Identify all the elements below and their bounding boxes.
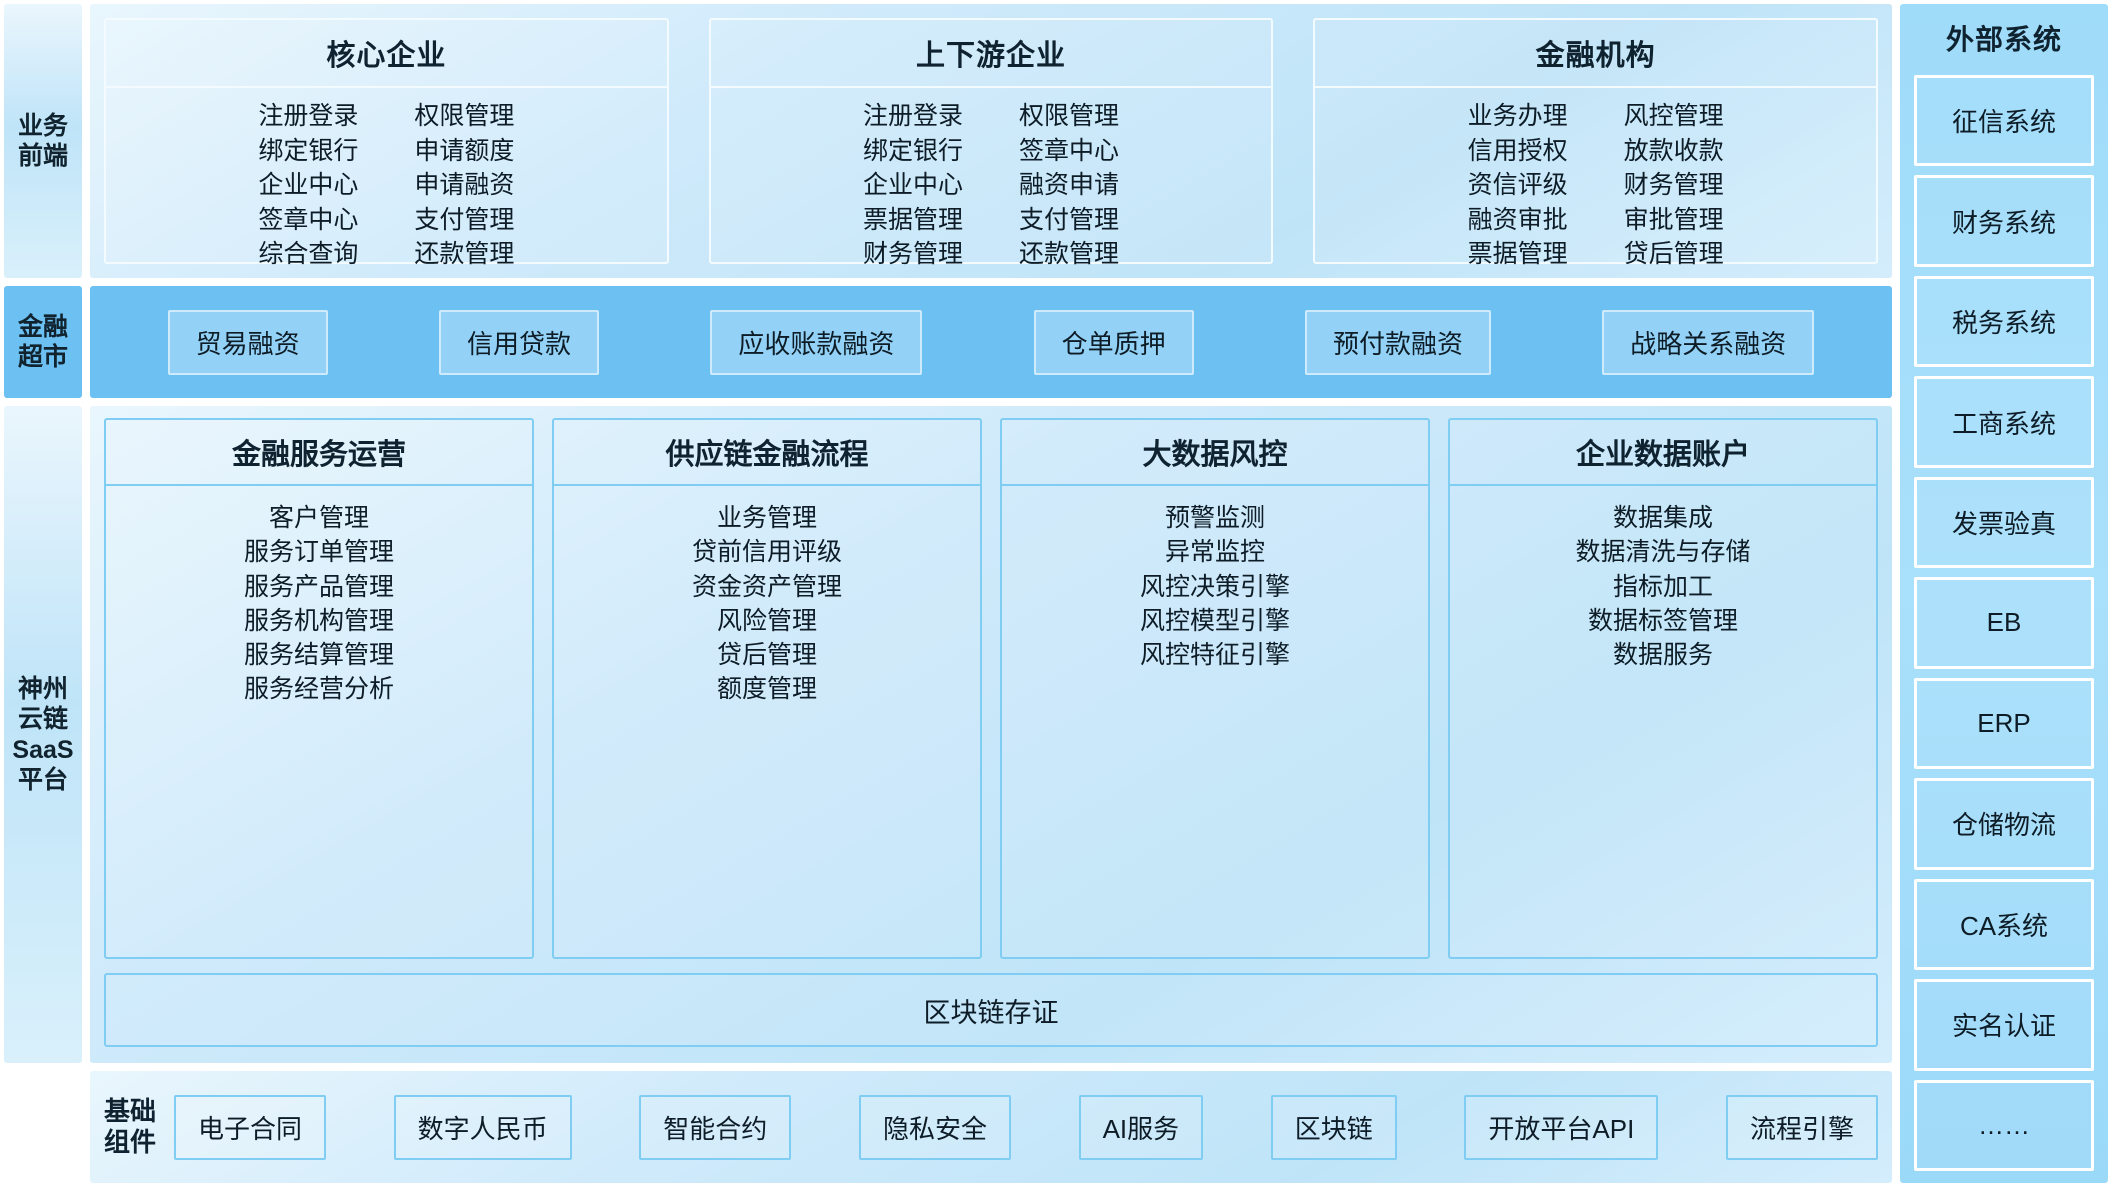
layer-label-line-3: SaaS bbox=[12, 735, 73, 766]
layer-label-line-4: 平台 bbox=[12, 765, 73, 796]
layer-label-spacer bbox=[4, 1071, 82, 1183]
front-item[interactable]: 企业中心 bbox=[258, 169, 358, 202]
external-system-invoice-verification[interactable]: 发票验真 bbox=[1914, 477, 2094, 568]
saas-item[interactable]: 服务经营分析 bbox=[244, 673, 394, 706]
base-chip-ai-service[interactable]: AI服务 bbox=[1079, 1095, 1204, 1160]
base-chip-digital-rmb[interactable]: 数字人民币 bbox=[394, 1095, 572, 1160]
base-chip-blockchain[interactable]: 区块链 bbox=[1271, 1095, 1397, 1160]
layer-label-business-frontend: 业务 前端 bbox=[4, 4, 82, 278]
front-card-title: 上下游企业 bbox=[711, 20, 1272, 88]
layer-label-line-2: 前端 bbox=[18, 141, 68, 172]
saas-item[interactable]: 资金资产管理 bbox=[692, 571, 842, 604]
front-item[interactable]: 权限管理 bbox=[414, 100, 514, 133]
saas-card-title: 供应链金融流程 bbox=[554, 420, 980, 486]
base-label-line-1: 基础 bbox=[104, 1096, 156, 1127]
front-card-title: 核心企业 bbox=[106, 20, 667, 88]
saas-item[interactable]: 指标加工 bbox=[1613, 571, 1713, 604]
saas-item[interactable]: 服务结算管理 bbox=[244, 639, 394, 672]
front-item[interactable]: 风控管理 bbox=[1624, 100, 1724, 133]
front-item[interactable]: 申请额度 bbox=[414, 135, 514, 168]
saas-card-title: 金融服务运营 bbox=[106, 420, 532, 486]
external-systems-title: 外部系统 bbox=[1946, 12, 2062, 66]
saas-card-supply-chain-finance-process[interactable]: 供应链金融流程 业务管理 贷前信用评级 资金资产管理 风险管理 贷后管理 额度管… bbox=[552, 418, 982, 959]
front-item[interactable]: 财务管理 bbox=[863, 238, 963, 271]
front-item[interactable]: 融资审批 bbox=[1468, 204, 1568, 237]
saas-card-title: 大数据风控 bbox=[1002, 420, 1428, 486]
external-system-tax[interactable]: 税务系统 bbox=[1914, 276, 2094, 367]
front-card-column-right: 权限管理 申请额度 申请融资 支付管理 还款管理 bbox=[414, 100, 514, 271]
layer-label-line-1: 神州 bbox=[12, 674, 73, 705]
layer-row-financial-supermarket: 金融 超市 贸易融资 信用贷款 应收账款融资 仓单质押 预付款融资 战略关系融资 bbox=[4, 286, 1892, 398]
main-layers-column: 业务 前端 核心企业 注册登录 绑定银行 企业中心 签章中心 bbox=[4, 4, 1892, 1183]
front-item[interactable]: 资信评级 bbox=[1468, 169, 1568, 202]
saas-item[interactable]: 风控特征引擎 bbox=[1140, 639, 1290, 672]
layer-row-base-components: 基础 组件 电子合同 数字人民币 智能合约 隐私安全 AI服务 区块链 开放平台… bbox=[4, 1071, 1892, 1183]
saas-item[interactable]: 风控模型引擎 bbox=[1140, 605, 1290, 638]
front-item[interactable]: 综合查询 bbox=[258, 238, 358, 271]
saas-card-enterprise-data-account[interactable]: 企业数据账户 数据集成 数据清洗与存储 指标加工 数据标签管理 数据服务 bbox=[1448, 418, 1878, 959]
saas-item[interactable]: 数据服务 bbox=[1613, 639, 1713, 672]
front-item[interactable]: 财务管理 bbox=[1624, 169, 1724, 202]
front-card-upstream-downstream-enterprise[interactable]: 上下游企业 注册登录 绑定银行 企业中心 票据管理 财务管理 权限管理 bbox=[709, 18, 1274, 264]
layer-label-line-2: 超市 bbox=[18, 342, 68, 373]
external-system-finance[interactable]: 财务系统 bbox=[1914, 175, 2094, 266]
saas-item[interactable]: 数据标签管理 bbox=[1588, 605, 1738, 638]
front-item[interactable]: 支付管理 bbox=[1019, 204, 1119, 237]
architecture-diagram: 业务 前端 核心企业 注册登录 绑定银行 企业中心 签章中心 bbox=[0, 0, 2114, 1187]
saas-item[interactable]: 预警监测 bbox=[1165, 502, 1265, 535]
market-chip-trade-finance[interactable]: 贸易融资 bbox=[168, 310, 328, 375]
saas-card-financial-service-operation[interactable]: 金融服务运营 客户管理 服务订单管理 服务产品管理 服务机构管理 服务结算管理 … bbox=[104, 418, 534, 959]
market-chip-credit-loan[interactable]: 信用贷款 bbox=[439, 310, 599, 375]
saas-item[interactable]: 额度管理 bbox=[717, 673, 817, 706]
base-components-panel: 基础 组件 电子合同 数字人民币 智能合约 隐私安全 AI服务 区块链 开放平台… bbox=[90, 1071, 1892, 1183]
base-chip-process-engine[interactable]: 流程引擎 bbox=[1726, 1095, 1878, 1160]
front-item[interactable]: 还款管理 bbox=[414, 238, 514, 271]
saas-item[interactable]: 服务订单管理 bbox=[244, 536, 394, 569]
saas-item[interactable]: 业务管理 bbox=[717, 502, 817, 535]
base-components-label: 基础 组件 bbox=[104, 1096, 160, 1158]
saas-item[interactable]: 风险管理 bbox=[717, 605, 817, 638]
market-chip-warehouse-receipt-pledge[interactable]: 仓单质押 bbox=[1034, 310, 1194, 375]
front-item[interactable]: 签章中心 bbox=[258, 204, 358, 237]
layer-row-saas-platform: 神州 云链 SaaS 平台 金融服务运营 客户管理 服务订单管理 服务产 bbox=[4, 406, 1892, 1063]
front-item[interactable]: 审批管理 bbox=[1624, 204, 1724, 237]
base-label-line-2: 组件 bbox=[104, 1127, 156, 1158]
layer-label-line-1: 业务 bbox=[18, 111, 68, 142]
market-chip-receivables-finance[interactable]: 应收账款融资 bbox=[710, 310, 922, 375]
external-system-real-name-auth[interactable]: 实名认证 bbox=[1914, 979, 2094, 1070]
layer-label-financial-supermarket: 金融 超市 bbox=[4, 286, 82, 398]
external-system-warehouse-logistics[interactable]: 仓储物流 bbox=[1914, 778, 2094, 869]
blockchain-evidence-bar[interactable]: 区块链存证 bbox=[104, 973, 1878, 1047]
front-card-column-right: 风控管理 放款收款 财务管理 审批管理 贷后管理 bbox=[1624, 100, 1724, 271]
external-system-more[interactable]: …… bbox=[1914, 1080, 2094, 1171]
front-card-title: 金融机构 bbox=[1315, 20, 1876, 88]
saas-item[interactable]: 数据清洗与存储 bbox=[1575, 536, 1750, 569]
external-system-ca[interactable]: CA系统 bbox=[1914, 879, 2094, 970]
front-item[interactable]: 权限管理 bbox=[1019, 100, 1119, 133]
market-chip-strategic-relation-finance[interactable]: 战略关系融资 bbox=[1602, 310, 1814, 375]
front-item[interactable]: 放款收款 bbox=[1624, 135, 1724, 168]
saas-item[interactable]: 风控决策引擎 bbox=[1140, 571, 1290, 604]
external-system-erp[interactable]: ERP bbox=[1914, 678, 2094, 769]
front-card-core-enterprise[interactable]: 核心企业 注册登录 绑定银行 企业中心 签章中心 综合查询 权限管理 bbox=[104, 18, 669, 264]
saas-item[interactable]: 贷前信用评级 bbox=[692, 536, 842, 569]
front-item[interactable]: 企业中心 bbox=[863, 169, 963, 202]
front-card-column-left: 注册登录 绑定银行 企业中心 签章中心 综合查询 bbox=[258, 100, 358, 271]
front-card-column-left: 业务办理 信用授权 资信评级 融资审批 票据管理 bbox=[1468, 100, 1568, 271]
external-system-credit-reporting[interactable]: 征信系统 bbox=[1914, 75, 2094, 166]
front-item[interactable]: 注册登录 bbox=[258, 100, 358, 133]
financial-supermarket-band: 贸易融资 信用贷款 应收账款融资 仓单质押 预付款融资 战略关系融资 bbox=[90, 286, 1892, 398]
layer-label-line-2: 云链 bbox=[12, 704, 73, 735]
layer-label-line-1: 金融 bbox=[18, 312, 68, 343]
front-item[interactable]: 支付管理 bbox=[414, 204, 514, 237]
saas-item[interactable]: 异常监控 bbox=[1165, 536, 1265, 569]
market-chip-prepayment-finance[interactable]: 预付款融资 bbox=[1305, 310, 1491, 375]
saas-item[interactable]: 客户管理 bbox=[269, 502, 369, 535]
saas-card-big-data-risk-control[interactable]: 大数据风控 预警监测 异常监控 风控决策引擎 风控模型引擎 风控特征引擎 bbox=[1000, 418, 1430, 959]
saas-card-title: 企业数据账户 bbox=[1450, 420, 1876, 486]
front-item[interactable]: 注册登录 bbox=[863, 100, 963, 133]
front-item[interactable]: 绑定银行 bbox=[258, 135, 358, 168]
front-card-column-right: 权限管理 签章中心 融资申请 支付管理 还款管理 bbox=[1019, 100, 1119, 271]
base-chip-privacy-security[interactable]: 隐私安全 bbox=[859, 1095, 1011, 1160]
front-item[interactable]: 票据管理 bbox=[1468, 238, 1568, 271]
front-card-column-left: 注册登录 绑定银行 企业中心 票据管理 财务管理 bbox=[863, 100, 963, 271]
base-chip-smart-contract[interactable]: 智能合约 bbox=[639, 1095, 791, 1160]
saas-item[interactable]: 贷后管理 bbox=[717, 639, 817, 672]
front-card-financial-institution[interactable]: 金融机构 业务办理 信用授权 资信评级 融资审批 票据管理 风控管理 bbox=[1313, 18, 1878, 264]
saas-item[interactable]: 数据集成 bbox=[1613, 502, 1713, 535]
saas-item[interactable]: 服务产品管理 bbox=[244, 571, 394, 604]
front-item[interactable]: 票据管理 bbox=[863, 204, 963, 237]
base-chip-electronic-contract[interactable]: 电子合同 bbox=[174, 1095, 326, 1160]
front-item[interactable]: 申请融资 bbox=[414, 169, 514, 202]
external-system-business-registration[interactable]: 工商系统 bbox=[1914, 376, 2094, 467]
base-chip-open-platform-api[interactable]: 开放平台API bbox=[1464, 1095, 1658, 1160]
business-frontend-panel: 核心企业 注册登录 绑定银行 企业中心 签章中心 综合查询 权限管理 bbox=[90, 4, 1892, 278]
saas-platform-panel: 金融服务运营 客户管理 服务订单管理 服务产品管理 服务机构管理 服务结算管理 … bbox=[90, 406, 1892, 1063]
external-systems-sidebar: 外部系统 征信系统 财务系统 税务系统 工商系统 发票验真 EB ERP 仓储物… bbox=[1900, 4, 2108, 1183]
front-item[interactable]: 融资申请 bbox=[1019, 169, 1119, 202]
layer-label-saas-platform: 神州 云链 SaaS 平台 bbox=[4, 406, 82, 1063]
front-item[interactable]: 签章中心 bbox=[1019, 135, 1119, 168]
front-item[interactable]: 业务办理 bbox=[1468, 100, 1568, 133]
external-system-eb[interactable]: EB bbox=[1914, 577, 2094, 668]
front-item[interactable]: 信用授权 bbox=[1468, 135, 1568, 168]
saas-item[interactable]: 服务机构管理 bbox=[244, 605, 394, 638]
front-item[interactable]: 还款管理 bbox=[1019, 238, 1119, 271]
layer-row-business-frontend: 业务 前端 核心企业 注册登录 绑定银行 企业中心 签章中心 bbox=[4, 4, 1892, 278]
front-item[interactable]: 贷后管理 bbox=[1624, 238, 1724, 271]
front-item[interactable]: 绑定银行 bbox=[863, 135, 963, 168]
